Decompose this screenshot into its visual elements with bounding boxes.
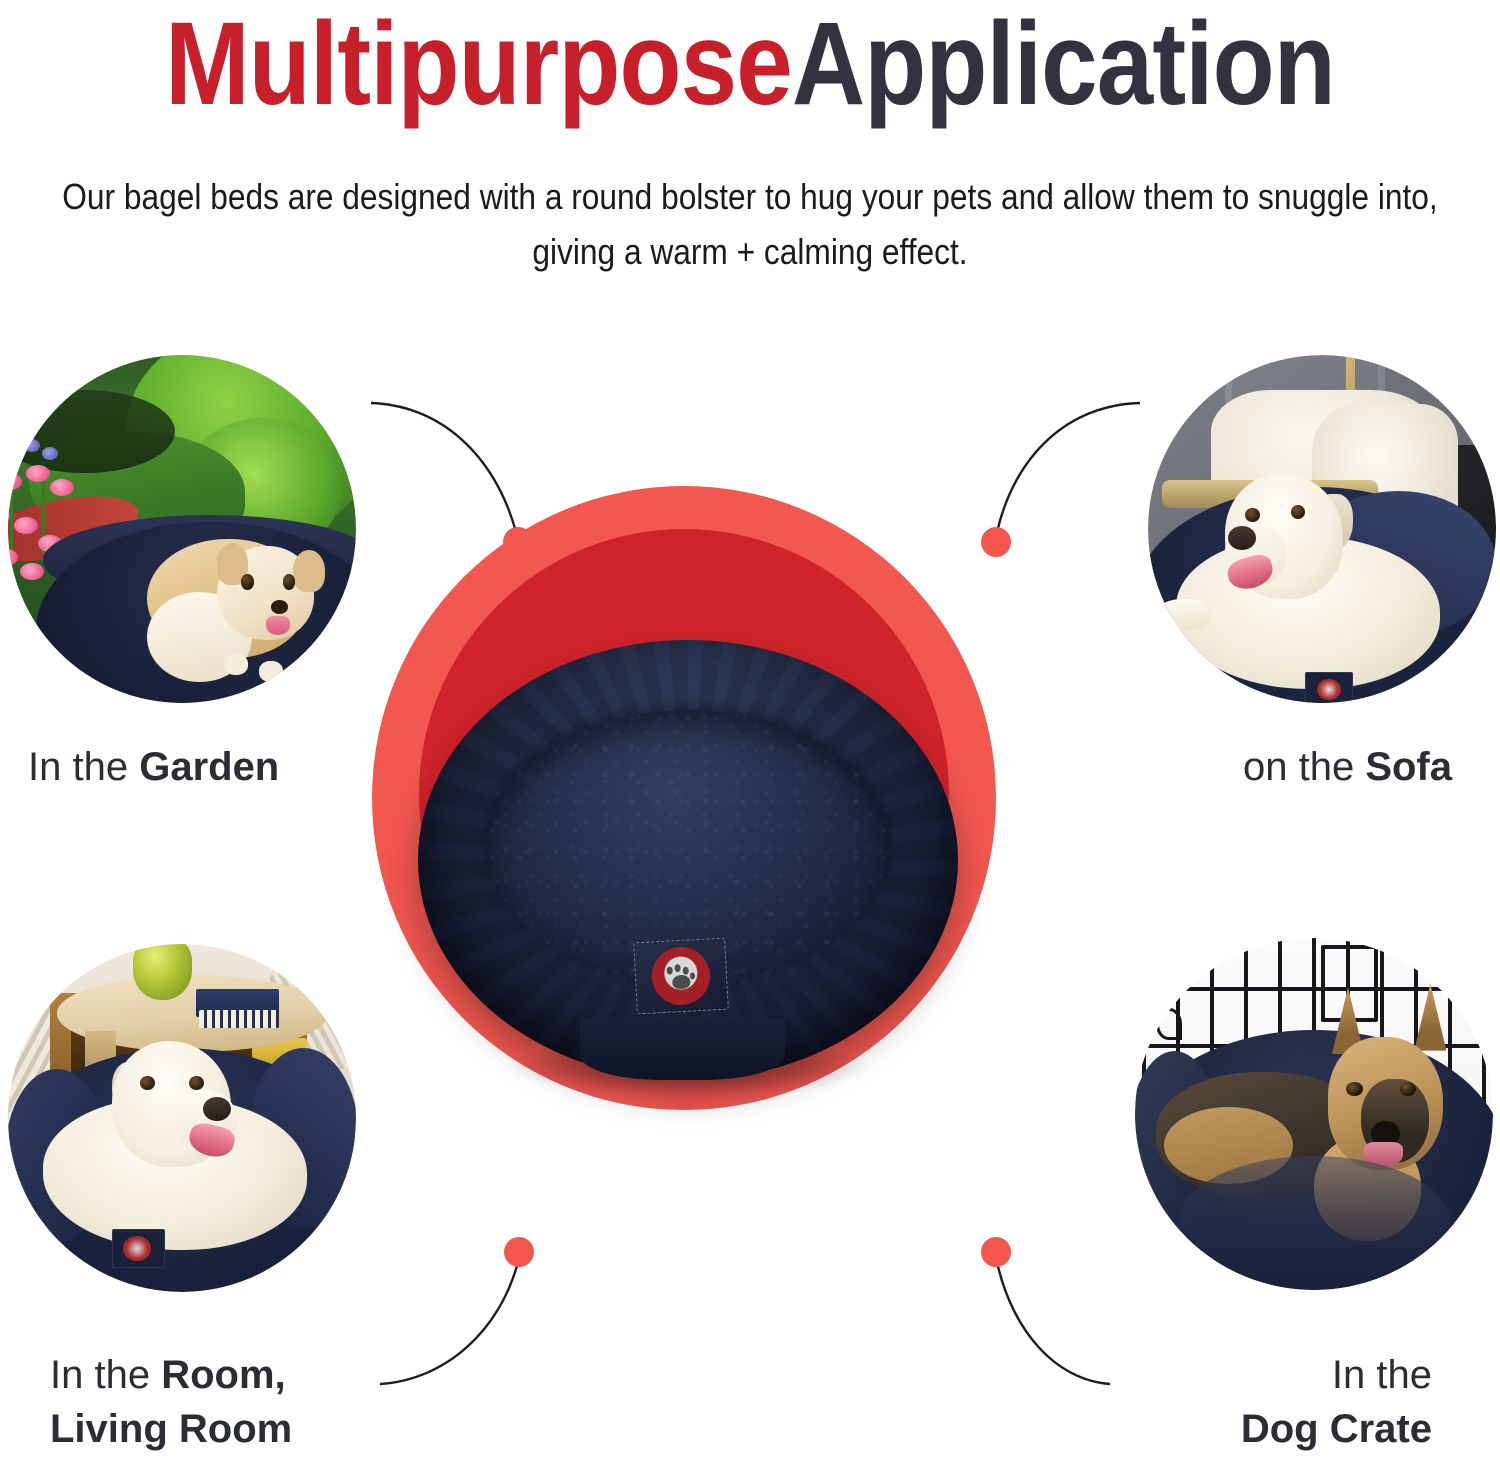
page-subtitle: Our bagel beds are designed with a round…	[37, 170, 1463, 279]
caption-garden-prefix: In the	[28, 745, 139, 789]
product-bagel-bed	[418, 640, 958, 1080]
connector-path-room	[380, 1262, 518, 1384]
photo-sofa	[1148, 355, 1496, 703]
connector-dot-room	[504, 1237, 534, 1267]
infographic-page: MultipurposeApplication Our bagel beds a…	[0, 0, 1500, 1471]
caption-room-emphasis: Room,	[161, 1353, 285, 1397]
brand-tag-majestic-pet	[633, 938, 729, 1015]
caption-sofa: on the Sofa	[1243, 740, 1452, 794]
caption-dog-crate: In the Dog Crate	[1241, 1348, 1432, 1456]
photo-garden	[8, 355, 356, 703]
photo-dog-crate	[1135, 938, 1493, 1290]
paw-print-icon	[651, 946, 712, 1007]
caption-living-room: In the Room, Living Room	[50, 1348, 292, 1456]
caption-room-prefix: In the	[50, 1353, 161, 1397]
caption-crate-line2: Dog Crate	[1241, 1407, 1432, 1451]
connector-path-sofa	[997, 403, 1140, 532]
caption-sofa-emphasis: Sofa	[1365, 745, 1452, 789]
green-vase	[133, 944, 192, 1000]
connector-path-garden	[371, 403, 516, 532]
connector-dot-sofa	[981, 527, 1011, 557]
page-title: MultipurposeApplication	[105, 4, 1395, 124]
caption-sofa-prefix: on the	[1243, 745, 1365, 789]
connector-dot-crate	[981, 1237, 1011, 1267]
page-title-dark: Application	[792, 0, 1335, 130]
photo-living-room	[8, 944, 356, 1292]
caption-room-line2: Living Room	[50, 1407, 292, 1451]
page-title-red: Multipurpose	[165, 0, 792, 130]
connector-path-crate	[997, 1262, 1110, 1384]
caption-crate-prefix: In the	[1332, 1353, 1432, 1397]
caption-garden: In the Garden	[28, 740, 279, 794]
caption-garden-emphasis: Garden	[139, 745, 279, 789]
